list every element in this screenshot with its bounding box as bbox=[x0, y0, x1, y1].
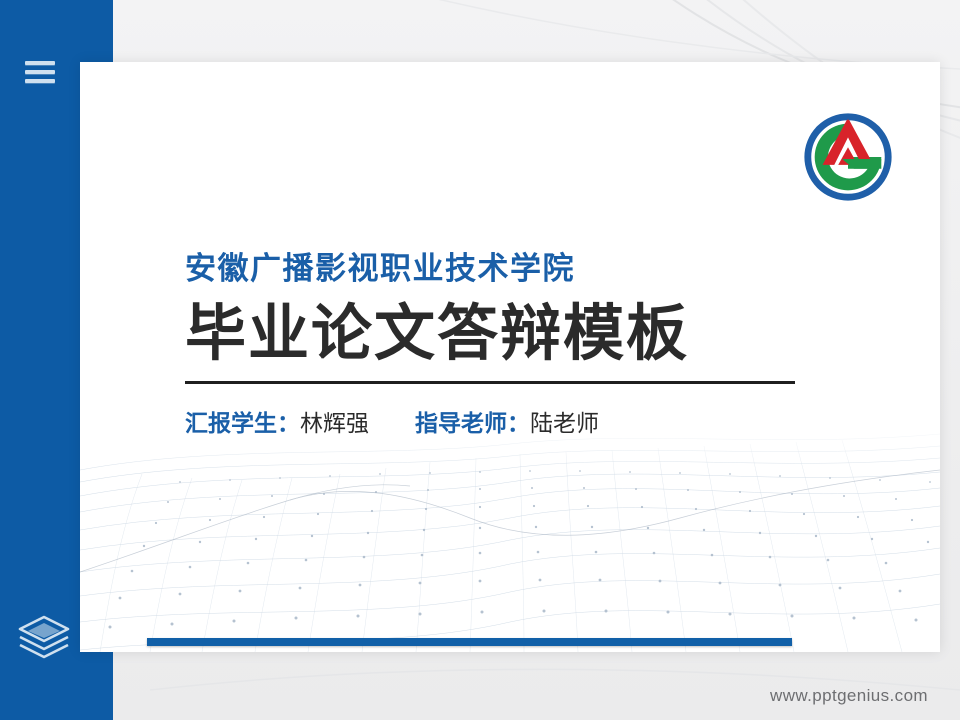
slide-content-card: 安徽广播影视职业技术学院 毕业论文答辩模板 汇报学生：林辉强指导老师：陆老师 bbox=[80, 62, 940, 652]
hamburger-menu-icon[interactable] bbox=[25, 61, 55, 85]
advisor-label: 指导老师： bbox=[415, 410, 530, 436]
bottom-accent-bar bbox=[147, 638, 792, 646]
school-name: 安徽广播影视职业技术学院 bbox=[185, 250, 905, 287]
title-divider-rule bbox=[185, 381, 795, 384]
presentation-slide: 安徽广播影视职业技术学院 毕业论文答辩模板 汇报学生：林辉强指导老师：陆老师 w… bbox=[0, 0, 960, 720]
dotted-wave-mesh-graphic bbox=[80, 422, 940, 652]
layers-stack-icon[interactable] bbox=[16, 612, 72, 662]
hamburger-bar bbox=[25, 79, 55, 83]
hamburger-bar bbox=[25, 70, 55, 74]
advisor-name: 陆老师 bbox=[530, 410, 599, 436]
university-emblem-logo bbox=[799, 108, 897, 206]
credits-line: 汇报学生：林辉强指导老师：陆老师 bbox=[185, 410, 905, 438]
title-text-block: 安徽广播影视职业技术学院 毕业论文答辩模板 汇报学生：林辉强指导老师：陆老师 bbox=[185, 250, 905, 437]
page-title: 毕业论文答辩模板 bbox=[185, 299, 905, 367]
hamburger-bar bbox=[25, 61, 55, 65]
student-label: 汇报学生： bbox=[185, 410, 300, 436]
student-name: 林辉强 bbox=[300, 410, 369, 436]
footer-url[interactable]: www.pptgenius.com bbox=[770, 686, 928, 706]
